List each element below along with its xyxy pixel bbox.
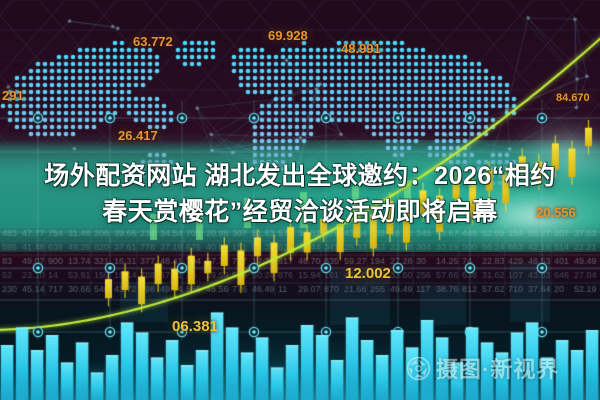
headline-line-2: 春天赏樱花”经贸洽谈活动即将启幕 xyxy=(0,194,600,230)
callout-291: 291 xyxy=(2,88,24,103)
watermark-text: 摄图·新视界 xyxy=(436,352,559,384)
callout-26417: 26.417 xyxy=(118,128,158,143)
watermark: 摄图·新视界 xyxy=(406,352,559,384)
callout-48991: 48.991 xyxy=(341,41,381,56)
callout-69928: 69.928 xyxy=(268,28,308,43)
headline-line-1: 场外配资网站 湖北发出全球邀约：2026“相约 xyxy=(0,158,600,194)
callout-06381: 06.381 xyxy=(172,318,218,335)
callout-12002: 12.002 xyxy=(345,265,391,282)
callout-84670: 84.670 xyxy=(556,92,590,104)
aperture-icon xyxy=(406,356,431,381)
hero-image: 场外配资网站 湖北发出全球邀约：2026“相约 春天赏樱花”经贸洽谈活动即将启幕… xyxy=(0,0,600,400)
callout-63772: 63.772 xyxy=(133,34,173,49)
headline-block: 场外配资网站 湖北发出全球邀约：2026“相约 春天赏樱花”经贸洽谈活动即将启幕 xyxy=(0,158,600,230)
